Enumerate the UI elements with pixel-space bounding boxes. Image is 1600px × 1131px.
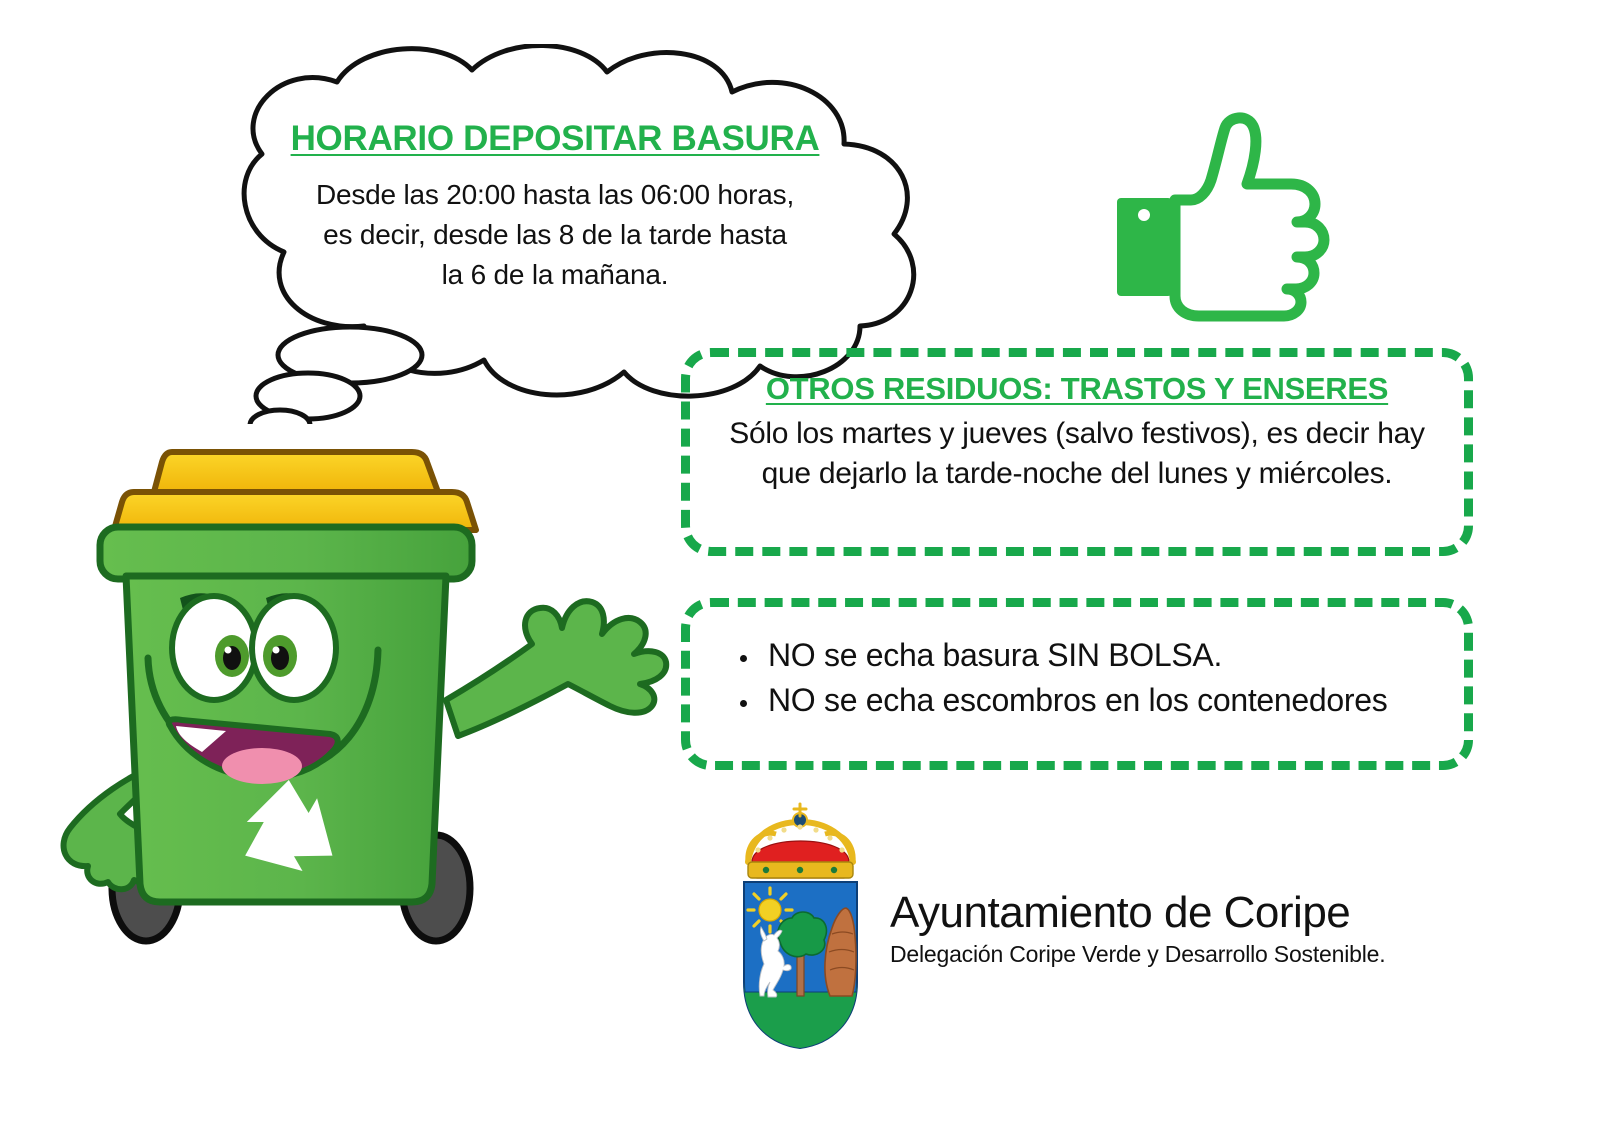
info-box-otros-content: OTROS RESIDUOS: TRASTOS Y ENSERES Sólo l… xyxy=(690,357,1464,494)
info-box-prohibiciones: NO se echa basura SIN BOLSA. NO se echa … xyxy=(681,598,1473,770)
coat-of-arms-coripe xyxy=(718,800,883,1052)
recycling-bin-icon xyxy=(40,430,680,950)
bin-eye-glint-left xyxy=(225,647,232,654)
info-box-otros-title: OTROS RESIDUOS: TRASTOS Y ENSERES xyxy=(712,371,1442,407)
footer-identity: Ayuntamiento de Coripe Delegación Coripe… xyxy=(890,890,1490,968)
recycling-bin-mascot xyxy=(40,430,680,950)
prohibiciones-list: NO se echa basura SIN BOLSA. NO se echa … xyxy=(690,607,1464,723)
bin-arm-right-waving xyxy=(446,601,666,736)
list-item: NO se echa basura SIN BOLSA. xyxy=(734,633,1464,678)
crown-gem-center xyxy=(797,867,803,873)
coat-of-arms-icon xyxy=(718,800,883,1052)
info-box-otros-line-2: que dejarlo la tarde-noche del lunes y m… xyxy=(712,454,1442,494)
thought-tail-ellipse-small xyxy=(250,410,310,424)
crown-gem-right xyxy=(831,867,837,873)
thought-bubble-title: HORARIO DEPOSITAR BASURA xyxy=(240,119,870,159)
bin-eye-glint-right xyxy=(273,647,280,654)
thought-bubble-body: Desde las 20:00 hasta las 06:00 horas, e… xyxy=(240,175,870,294)
thought-bubble-line-3: la 6 de la mañana. xyxy=(240,255,870,295)
thumbs-up-container xyxy=(1095,100,1345,330)
info-box-otros-line-1: Sólo los martes y jueves (salvo festivos… xyxy=(712,414,1442,454)
info-box-otros-body: Sólo los martes y jueves (salvo festivos… xyxy=(712,414,1442,494)
footer-title: Ayuntamiento de Coripe xyxy=(890,890,1490,936)
bin-lid-top xyxy=(154,452,438,492)
list-item: NO se echa escombros en los contenedores xyxy=(734,678,1464,723)
thumb-cuff-dot xyxy=(1138,209,1150,221)
thumbs-up-icon xyxy=(1095,100,1345,330)
info-box-otros-residuos: OTROS RESIDUOS: TRASTOS Y ENSERES Sólo l… xyxy=(681,348,1473,556)
bin-rim xyxy=(100,527,472,579)
thought-bubble-line-1: Desde las 20:00 hasta las 06:00 horas, xyxy=(240,175,870,215)
thought-bubble-line-2: es decir, desde las 8 de la tarde hasta xyxy=(240,215,870,255)
bin-tongue xyxy=(222,748,302,784)
thought-bubble-content: HORARIO DEPOSITAR BASURA Desde las 20:00… xyxy=(240,119,870,294)
crown-gem-left xyxy=(763,867,769,873)
poster-canvas: HORARIO DEPOSITAR BASURA Desde las 20:00… xyxy=(0,0,1600,1131)
footer-subtitle: Delegación Coripe Verde y Desarrollo Sos… xyxy=(890,941,1490,968)
